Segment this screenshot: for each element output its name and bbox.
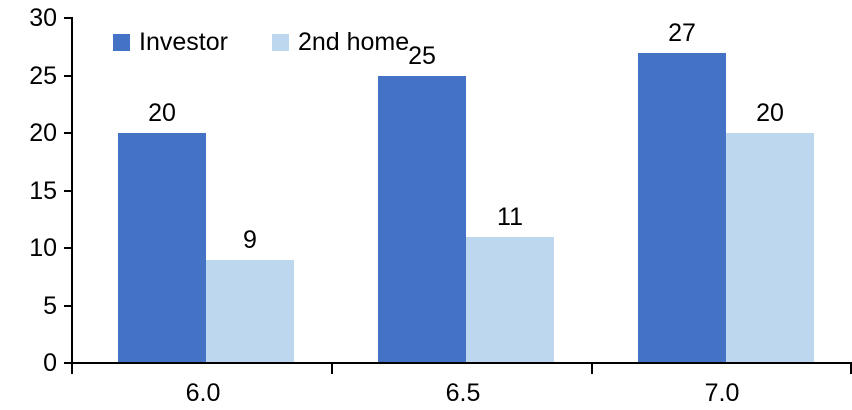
bar-pair-6.5: 25 11	[378, 18, 554, 363]
legend-swatch-investor-icon	[113, 34, 130, 51]
y-tick-label-25: 25	[29, 60, 57, 92]
bar-investor-6.0[interactable]: 20	[118, 133, 206, 363]
bar-investor-7.0[interactable]: 27	[638, 53, 726, 364]
bar-group-6.5: 25 11	[333, 18, 593, 363]
y-tick-mark-20	[64, 132, 73, 134]
y-tick-mark-10	[64, 247, 73, 249]
x-tick-mark-0	[71, 362, 73, 374]
y-tick-mark-25	[64, 75, 73, 77]
y-tick-label-5: 5	[43, 290, 57, 322]
x-tick-label-7.0: 7.0	[592, 377, 852, 409]
bar-secondhome-6.0[interactable]: 9	[206, 260, 294, 364]
legend-label-investor: Investor	[139, 28, 228, 56]
y-tick-label-15: 15	[29, 175, 57, 207]
x-tick-label-6.5: 6.5	[333, 377, 593, 409]
legend: Investor 2nd home	[113, 28, 409, 56]
bar-group-6.0: 20 9	[73, 18, 333, 363]
y-tick-label-30: 30	[29, 2, 57, 34]
y-tick-label-0: 0	[43, 347, 57, 379]
legend-swatch-secondhome-icon	[272, 34, 289, 51]
y-tick-label-10: 10	[29, 232, 57, 264]
legend-item-investor[interactable]: Investor	[113, 28, 228, 56]
bar-value-secondhome-6.0: 9	[206, 224, 294, 256]
bar-value-investor-6.0: 20	[118, 97, 206, 129]
y-tick-label-20: 20	[29, 117, 57, 149]
bar-value-secondhome-6.5: 11	[466, 201, 554, 233]
legend-label-secondhome: 2nd home	[298, 28, 409, 56]
bar-chart: 30 25 20 15 10 5 0	[0, 0, 852, 410]
x-tick-mark-2	[591, 362, 593, 374]
x-axis-line	[71, 362, 852, 364]
x-tick-label-6.0: 6.0	[73, 377, 333, 409]
bar-value-secondhome-7.0: 20	[726, 97, 814, 129]
y-tick-mark-30	[64, 17, 73, 19]
bar-value-investor-7.0: 27	[638, 17, 726, 49]
y-axis: 30 25 20 15 10 5 0	[0, 0, 73, 410]
bar-group-7.0: 27 20	[593, 18, 852, 363]
plot-area: 20 9 25 11 27	[73, 18, 852, 363]
bar-secondhome-6.5[interactable]: 11	[466, 237, 554, 364]
x-tick-mark-1	[331, 362, 333, 374]
legend-item-secondhome[interactable]: 2nd home	[272, 28, 409, 56]
y-tick-mark-5	[64, 305, 73, 307]
y-tick-mark-15	[64, 190, 73, 192]
bar-pair-6.0: 20 9	[118, 18, 294, 363]
bar-secondhome-7.0[interactable]: 20	[726, 133, 814, 363]
bar-investor-6.5[interactable]: 25	[378, 76, 466, 364]
bar-pair-7.0: 27 20	[638, 18, 814, 363]
